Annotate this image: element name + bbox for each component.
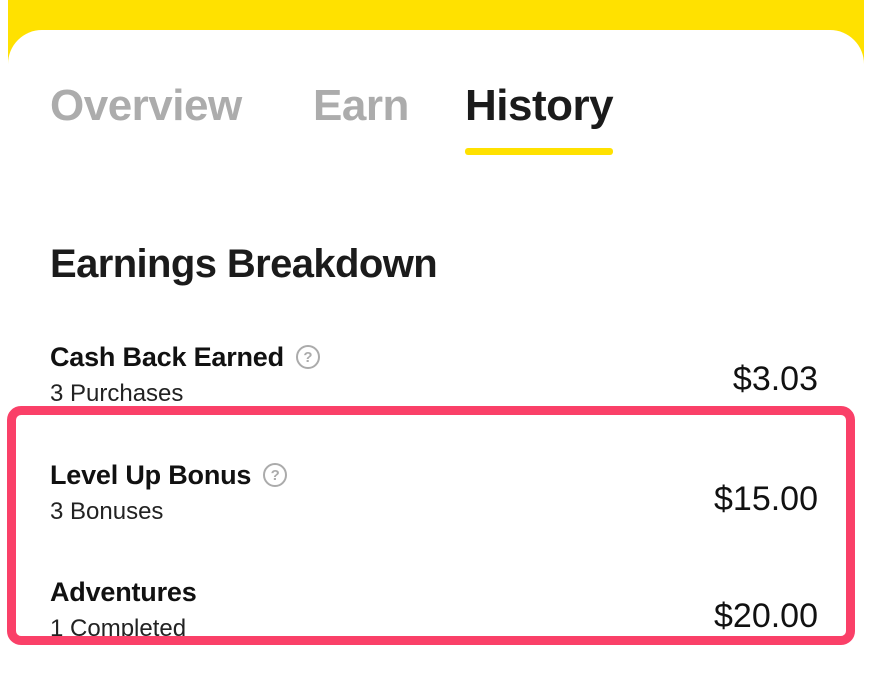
question-mark-circle-icon[interactable]: ? [263,463,287,487]
row-title-cash-back-earned: Cash Back Earned [50,342,284,373]
tab-history-label: History [465,76,613,136]
breakdown-row-level-up-bonus[interactable]: Level Up Bonus ? 3 Bonuses $15.00 [8,458,864,536]
row-subtitle-adventures: 1 Completed [50,615,197,643]
row-amount-level-up-bonus: $15.00 [714,480,818,519]
tab-earn[interactable]: Earn [313,76,409,136]
breakdown-row-adventures[interactable]: Adventures 1 Completed $20.00 [8,575,864,653]
row-title-line: Adventures [50,575,197,609]
row-subtitle-cash-back-earned: 3 Purchases [50,380,320,408]
app-frame: Overview Earn History Earnings Breakdown… [0,0,880,674]
active-tab-underline [465,148,613,155]
question-mark-circle-icon[interactable]: ? [296,345,320,369]
row-title-line: Cash Back Earned ? [50,340,320,374]
row-left-cash-back-earned: Cash Back Earned ? 3 Purchases [50,340,320,408]
content-card: Overview Earn History Earnings Breakdown… [8,30,864,674]
tab-overview[interactable]: Overview [50,76,242,136]
page-title: Earnings Breakdown [50,242,437,287]
row-amount-cash-back-earned: $3.03 [733,360,818,399]
row-amount-adventures: $20.00 [714,597,818,636]
row-left-adventures: Adventures 1 Completed [50,575,197,643]
row-title-line: Level Up Bonus ? [50,458,287,492]
row-left-level-up-bonus: Level Up Bonus ? 3 Bonuses [50,458,287,526]
tab-bar: Overview Earn History [8,76,864,186]
tab-history[interactable]: History [465,76,613,136]
breakdown-row-cash-back-earned[interactable]: Cash Back Earned ? 3 Purchases $3.03 [8,340,864,418]
tab-earn-label: Earn [313,76,409,136]
tab-overview-label: Overview [50,76,242,136]
row-subtitle-level-up-bonus: 3 Bonuses [50,498,287,526]
row-title-adventures: Adventures [50,577,197,608]
row-title-level-up-bonus: Level Up Bonus [50,460,251,491]
